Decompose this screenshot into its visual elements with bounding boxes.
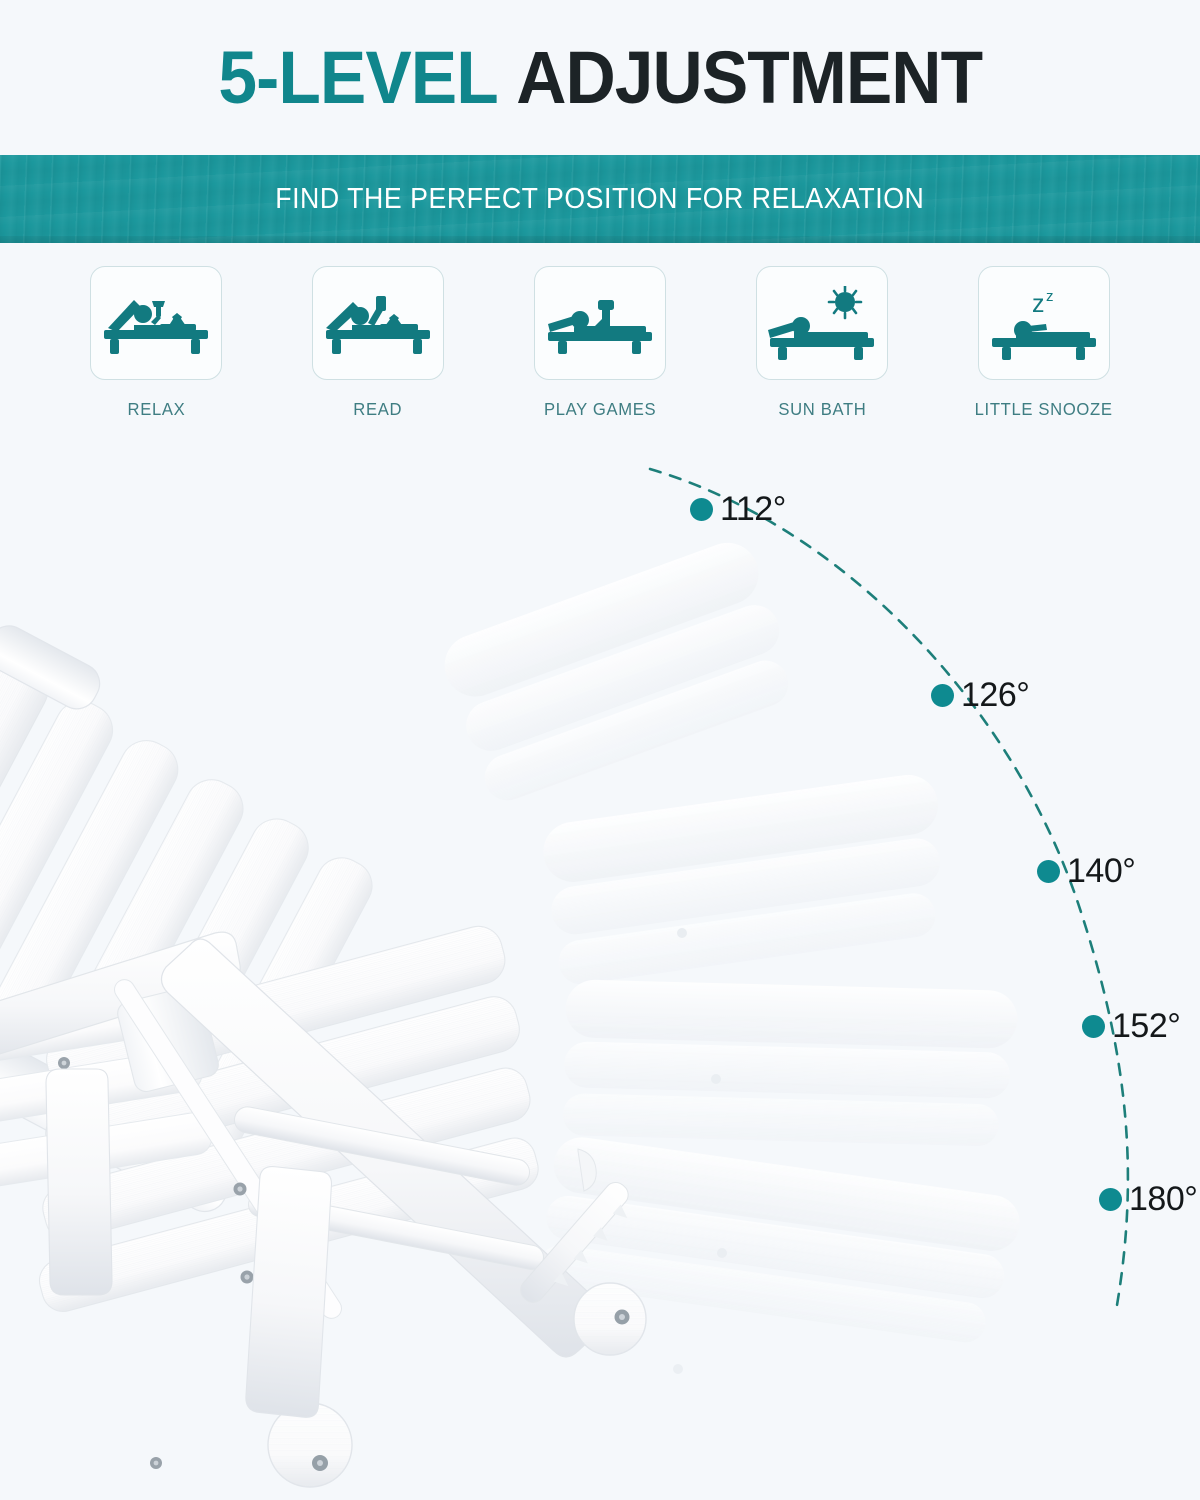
angle-marker-112: 112° — [690, 490, 786, 529]
angle-value: 112° — [720, 490, 786, 529]
feature-play-games[interactable]: PLAY GAMES — [527, 266, 673, 420]
feature-relax[interactable]: RELAX — [83, 266, 229, 420]
feature-little-snooze[interactable]: z z LITTLE SNOOZE — [971, 266, 1117, 420]
angle-dot — [1099, 1188, 1122, 1211]
person-sleeping-zzz-icon: z z — [988, 286, 1100, 360]
svg-text:z: z — [1032, 290, 1045, 318]
angle-dot — [1082, 1015, 1105, 1038]
angle-value: 152° — [1112, 1007, 1180, 1046]
feature-label: RELAX — [127, 399, 185, 420]
angle-value: 126° — [961, 676, 1029, 715]
person-reclining-with-drink-icon — [100, 292, 212, 354]
angle-dot — [1037, 860, 1060, 883]
subtitle-text: FIND THE PERFECT POSITION FOR RELAXATION — [275, 183, 924, 216]
page-title-accent: 5-LEVEL — [218, 36, 497, 119]
feature-icon-row: RELAX READ — [0, 243, 1200, 433]
angle-marker-140: 140° — [1037, 852, 1135, 891]
page-header: 5-LEVEL ADJUSTMENT — [0, 0, 1200, 155]
feature-read[interactable]: READ — [305, 266, 451, 420]
feature-card — [756, 266, 888, 380]
angle-marker-126: 126° — [931, 676, 1029, 715]
page-title: 5-LEVEL ADJUSTMENT — [218, 41, 982, 115]
angle-dot — [931, 684, 954, 707]
feature-card: z z — [978, 266, 1110, 380]
feature-label: READ — [354, 399, 403, 420]
angle-marker-group: 112° 126° 140° 152° 180° — [0, 433, 1200, 1500]
feature-card — [90, 266, 222, 380]
angle-value: 140° — [1067, 852, 1135, 891]
angle-marker-152: 152° — [1082, 1007, 1180, 1046]
svg-text:z: z — [1046, 288, 1054, 305]
feature-label: SUN BATH — [778, 399, 866, 420]
feature-card — [534, 266, 666, 380]
page-title-rest: ADJUSTMENT — [516, 36, 982, 119]
feature-label: PLAY GAMES — [544, 399, 656, 420]
person-reading-book-icon — [322, 292, 434, 354]
product-illustration-stage: 112° 126° 140° 152° 180° — [0, 433, 1200, 1500]
feature-label: LITTLE SNOOZE — [975, 399, 1113, 420]
feature-card — [312, 266, 444, 380]
angle-value: 180° — [1129, 1180, 1197, 1219]
person-playing-handheld-icon — [544, 292, 656, 354]
angle-dot — [690, 498, 713, 521]
person-sunbathing-with-sun-icon — [766, 286, 878, 360]
subtitle-band: FIND THE PERFECT POSITION FOR RELAXATION — [0, 155, 1200, 243]
angle-marker-180: 180° — [1099, 1180, 1197, 1219]
feature-sun-bath[interactable]: SUN BATH — [749, 266, 895, 420]
